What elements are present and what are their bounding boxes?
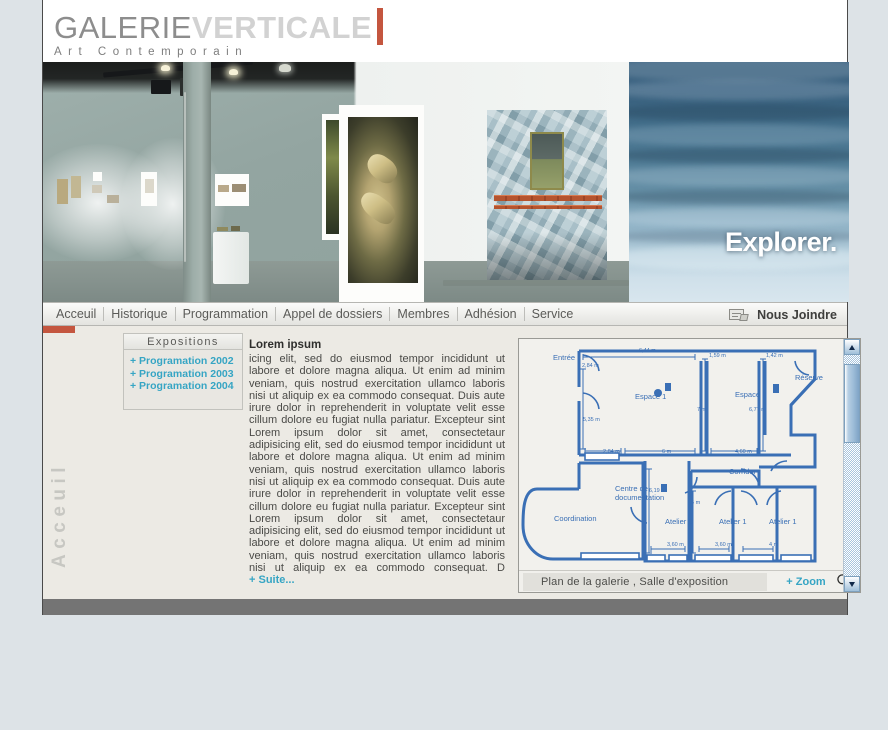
site-page: GALERIEVERTICALE Art Contemporain [42,0,848,615]
article-more-link[interactable]: + Suite... [249,574,295,586]
expositions-link-list: + Programation 2002 + Programation 2003 … [123,350,243,410]
section-accent-tab [43,326,75,333]
mail-icon [729,308,749,322]
logo-verticale-text: VERTICALE [192,10,372,45]
spotlight-fixture [151,80,171,94]
zoom-link[interactable]: + Zoom [767,576,845,588]
floor-plan-room-label: documentation [615,493,664,502]
hero-overlay-text: Explorer. [725,227,837,258]
floor-plan-room-label: Réserve [795,373,823,382]
floor-plan-dimension-label: 7 m [697,407,707,413]
floor-plan-dimension-label: 3,60 m [715,542,732,548]
scroll-down-button[interactable] [844,576,860,592]
floor-plan-caption-row: Plan de la galerie , Salle d'exposition … [519,570,845,592]
floor-plan-room-label: Entrée [553,353,575,362]
floor-plan-dimension-label: 1,42 m [766,353,783,359]
artwork-shelf [494,205,602,209]
artwork-shelf [494,195,602,201]
floor-plan-dimension-label: 4 m [769,542,779,548]
floor-plan-room-label: Atelier 3 [665,517,693,526]
nav-item-service[interactable]: Service [525,303,581,325]
artwork-stone-wall [487,110,607,280]
floor-plan-room-label: Atelier 1 [719,517,747,526]
nav-item-programmation[interactable]: Programmation [176,303,275,325]
floor-plan-drawing: EntréeEspace 1Espace 2RéserveCorridorCen… [519,339,845,571]
floor-plan-dimension-label: 6 m [662,449,672,455]
structural-column [183,62,211,302]
artwork-object [231,226,240,231]
floor-shadow [443,280,629,286]
expositions-panel: Expositions + Programation 2002 + Progra… [123,333,243,410]
sidebar-link-programation-2004[interactable]: + Programation 2004 [130,380,238,393]
cloud-band [629,208,849,227]
floor-plan-dimension-label: 5,35 m [583,417,600,423]
contact-label: Nous Joindre [757,308,837,322]
artwork-small [93,172,102,181]
cloud-band [629,190,849,204]
expositions-panel-title: Expositions [123,333,243,350]
section-title-vertical: Acceuil [43,334,77,574]
contact-link[interactable]: Nous Joindre [729,303,837,327]
logo-accent-bar [377,8,383,45]
cloud-band [629,104,849,121]
floor-plan-dimension-label: 4,60 m [735,449,752,455]
floor-plan-dimension-label: 2,84 m [582,363,599,369]
floor-plan-dimension-label: 2,84 m [603,449,620,455]
main-navigation: Acceuil Historique Programmation Appel d… [43,302,847,326]
ceiling-lamp-icon [161,65,170,71]
logo-galerie-text: GALERIE [54,10,192,45]
ceiling-lamp-icon [229,69,238,75]
floor-plan-room-label: Espace 1 [635,392,666,401]
floor-plan-dimension-label: 6,77 m [749,407,766,413]
artwork-small [71,176,81,198]
floor-plan-dimension-label: 3,60 m [667,542,684,548]
cloud-band [629,80,849,100]
vertical-scrollbar[interactable] [843,339,860,592]
cloud-band [629,166,849,186]
floor-plan-room-label: Espace 2 [735,390,766,399]
floor-plan-caption: Plan de la galerie , Salle d'exposition [523,573,767,591]
cloud-band [629,62,849,82]
nav-item-historique[interactable]: Historique [104,303,174,325]
artwork-small [57,179,68,204]
sidebar-link-programation-2003[interactable]: + Programation 2003 [130,368,238,381]
site-logo[interactable]: GALERIEVERTICALE Art Contemporain [54,8,383,54]
article-body: icing elit, sed do eiusmod tempor incidi… [249,353,505,587]
artwork-image [145,179,154,193]
artwork-mirror [530,132,564,190]
floor-plan-panel: EntréeEspace 1Espace 2RéserveCorridorCen… [518,338,861,593]
floor-plan-dimension-label: 6,19 m [649,488,666,494]
nav-item-membres[interactable]: Membres [390,303,456,325]
floor-plan-room-label: Atelier 1 [769,517,797,526]
cloud-band [629,124,849,146]
gallery-interior-photo [43,62,629,302]
floor-plan-viewport[interactable]: EntréeEspace 1Espace 2RéserveCorridorCen… [519,339,845,571]
logo-tagline: Art Contemporain [54,46,383,58]
scrollbar-thumb[interactable] [844,364,860,443]
floor-plan-dimension-label: 6,44 m [639,348,656,354]
artwork-small [107,195,119,203]
nav-item-adhesion[interactable]: Adhésion [458,303,524,325]
article-body-text: icing elit, sed do eiusmod tempor incidi… [249,353,505,574]
artwork-object [217,227,228,231]
nav-item-acceuil[interactable]: Acceuil [49,303,103,325]
nav-item-appel-de-dossiers[interactable]: Appel de dossiers [276,303,389,325]
sidebar-link-programation-2002[interactable]: + Programation 2002 [130,355,238,368]
artwork-small [92,185,102,193]
artwork-image [218,185,229,192]
floor-plan-room-label: Corridor [729,467,757,476]
cloud-band [629,148,849,163]
floor-plan-room-label: Centre de [615,484,648,493]
display-plinth [213,232,249,284]
masthead: GALERIEVERTICALE Art Contemporain [43,0,847,62]
floor-plan-room-label: Coordination [554,514,597,523]
artwork-image [232,184,246,192]
floor-plan-dimension-label: 1,59 m [709,353,726,359]
arrow-up-icon [849,345,855,350]
page-footer [43,599,847,615]
section-title-text: Acceuil [49,358,71,568]
cloudscape-photo: Explorer. [629,62,849,302]
floor-plan-dimension-label: 6 m [691,500,701,506]
article-title: Lorem ipsum [249,339,505,351]
scroll-up-button[interactable] [844,339,860,355]
logo-wordmark: GALERIEVERTICALE [54,8,383,45]
arrow-down-icon [849,582,855,587]
column-edge [184,92,186,262]
article-block: Lorem ipsum icing elit, sed do eiusmod t… [249,339,505,587]
artwork-logs [348,117,418,283]
ceiling-lamp-icon [279,64,291,72]
hero-banner: Explorer. [43,62,849,302]
